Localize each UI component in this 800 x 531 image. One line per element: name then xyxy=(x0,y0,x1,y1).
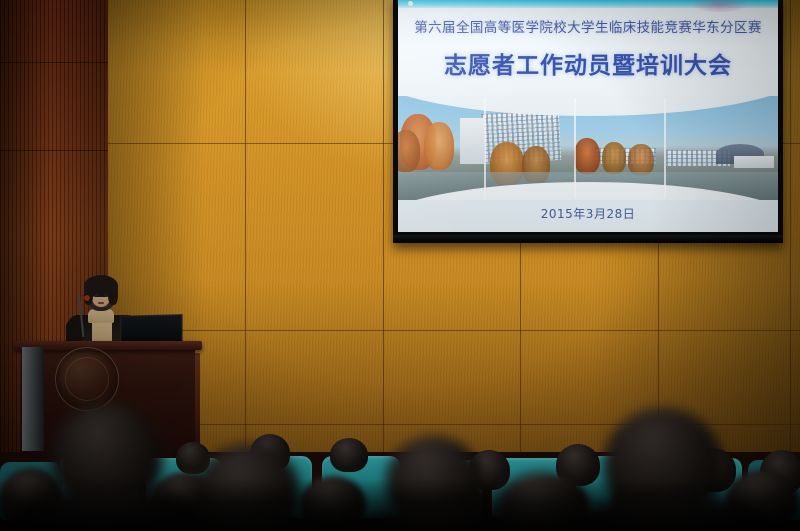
foreground-shadow xyxy=(0,479,800,531)
slide-band-swirl xyxy=(690,0,750,12)
slide-title: 志愿者工作动员暨培训大会 xyxy=(398,46,778,80)
speaker-collar xyxy=(88,309,114,323)
campus-panorama xyxy=(398,96,778,200)
speaker-hair-right xyxy=(108,283,118,305)
speaker-hair-left xyxy=(84,283,93,305)
projection-screen[interactable]: 第六届全国高等医学院校大学生临床技能竞赛华东分区赛 志愿者工作动员暨培训大会 xyxy=(393,0,783,243)
slide-band-dot xyxy=(408,1,413,6)
speaker-mouth xyxy=(98,302,104,304)
slide-subtitle: 第六届全国高等医学院校大学生临床技能竞赛华东分区赛 xyxy=(398,16,778,36)
audience xyxy=(0,398,800,531)
slide-date: 2015年3月28日 xyxy=(398,205,778,222)
presentation-slide: 第六届全国高等医学院校大学生临床技能竞赛华东分区赛 志愿者工作动员暨培训大会 xyxy=(398,0,778,232)
microphone-icon xyxy=(84,295,90,301)
slide-top-band xyxy=(398,0,778,8)
conference-photo: 第六届全国高等医学院校大学生临床技能竞赛华东分区赛 志愿者工作动员暨培训大会 xyxy=(0,0,800,531)
